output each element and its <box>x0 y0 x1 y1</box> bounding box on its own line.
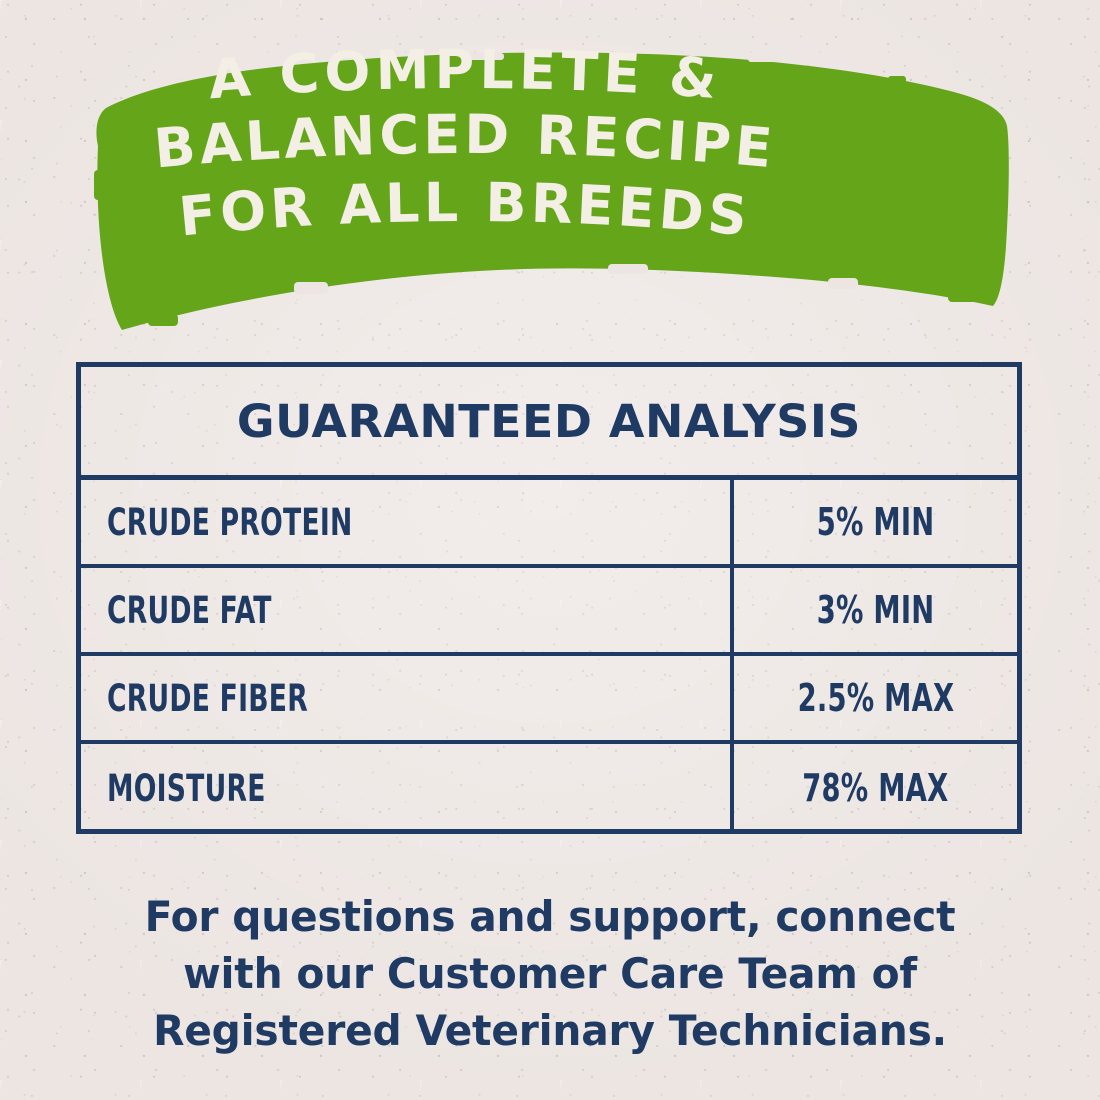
table-cell-nutrient: CRUDE PROTEIN <box>81 480 734 564</box>
nutrient-value: 3% MIN <box>817 588 935 632</box>
guaranteed-analysis-title: GUARANTEED ANALYSIS <box>237 395 861 448</box>
customer-care-note: For questions and support, connect with … <box>50 888 1050 1059</box>
banner-brush-shape <box>88 50 1018 340</box>
table-cell-nutrient: CRUDE FAT <box>81 568 734 652</box>
table-cell-amount: 5% MIN <box>734 480 1017 564</box>
table-cell-amount: 3% MIN <box>734 568 1017 652</box>
nutrient-value: 78% MAX <box>802 766 948 810</box>
customer-care-note-line-2: with our Customer Care Team of <box>65 945 1035 1002</box>
nutrient-label: CRUDE FAT <box>107 589 272 632</box>
table-cell-amount: 78% MAX <box>734 744 1017 832</box>
table-cell-nutrient: CRUDE FIBER <box>81 656 734 740</box>
product-info-panel: A COMPLETE & BALANCED RECIPE FOR ALL BRE… <box>0 0 1100 1100</box>
table-row: CRUDE PROTEIN 5% MIN <box>81 480 1017 568</box>
table-row: MOISTURE 78% MAX <box>81 744 1017 832</box>
table-row: CRUDE FIBER 2.5% MAX <box>81 656 1017 744</box>
nutrient-label: MOISTURE <box>107 767 266 810</box>
customer-care-note-line-1: For questions and support, connect <box>65 888 1035 945</box>
table-cell-amount: 2.5% MAX <box>734 656 1017 740</box>
brush-stroke-path <box>96 52 1008 330</box>
nutrient-value: 2.5% MAX <box>797 676 954 720</box>
nutrient-label: CRUDE FIBER <box>107 677 308 720</box>
nutrient-value: 5% MIN <box>817 500 935 544</box>
table-cell-nutrient: MOISTURE <box>81 744 734 832</box>
customer-care-note-line-3: Registered Veterinary Technicians. <box>65 1002 1035 1059</box>
guaranteed-analysis-table: GUARANTEED ANALYSIS CRUDE PROTEIN 5% MIN… <box>76 362 1022 834</box>
guaranteed-analysis-header: GUARANTEED ANALYSIS <box>81 367 1017 480</box>
table-row: CRUDE FAT 3% MIN <box>81 568 1017 656</box>
nutrient-label: CRUDE PROTEIN <box>107 501 353 544</box>
